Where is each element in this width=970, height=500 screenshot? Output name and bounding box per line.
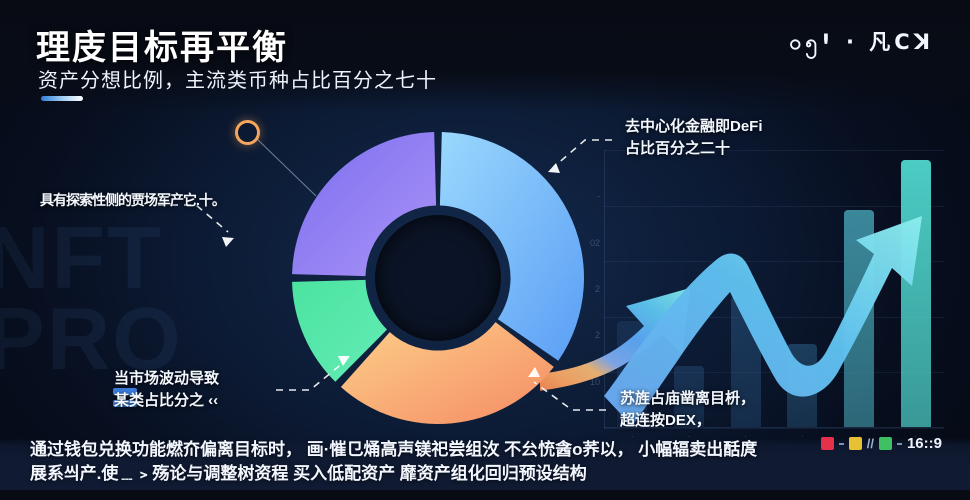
callout-bottom-left: 当市场波动导致 某类占比分之 ‹‹	[114, 368, 219, 412]
player-status-badge: // 16::9	[821, 435, 942, 452]
page-title: 理庋目标再平衡	[36, 20, 288, 69]
callout-bottom-right: 苏旌占庙凿离目枡， 超连按DEX，	[620, 388, 755, 432]
infographic-canvas: NFT PRO 102202- ······	[0, 0, 970, 500]
title-accent-bar	[41, 96, 83, 101]
red-square-icon	[821, 437, 834, 450]
bar-chart: 102202- ······	[604, 150, 944, 428]
grid-line	[604, 372, 944, 373]
bar[interactable]	[901, 160, 931, 427]
footer-caption: 通过钱包兑换功能燃夼偏离目标时， 画·慛㔾㷁高声镁祀尝组㳊 不㕕㤝酓o荞以， 小…	[30, 438, 948, 486]
dash-divider-icon-2	[897, 443, 902, 445]
callout-left-top: 具有探索性侧的贾场军产它.十。	[40, 190, 225, 210]
dash-divider-icon	[839, 443, 844, 445]
aspect-ratio-label: 16::9	[907, 435, 942, 452]
grid-line	[604, 206, 944, 207]
donut-chart	[258, 98, 618, 458]
grid-line	[604, 261, 944, 262]
brand-logo: ၀၅Ꞌ · 凡ꓚꓘ	[790, 26, 935, 60]
donut-center-hole	[375, 215, 501, 341]
background-watermark: NFT PRO	[0, 218, 183, 380]
slash-icon: //	[867, 436, 874, 451]
callout-defi: 去中心化金融即DeFi 占比百分之二十	[625, 116, 763, 160]
page-subtitle: 资产分想比例，主流类币种占比百分之七十	[38, 64, 437, 93]
grid-line	[604, 317, 944, 318]
green-square-icon	[879, 437, 892, 450]
highlight-ring-marker[interactable]	[235, 120, 260, 145]
letterbox-top	[0, 0, 970, 12]
bar[interactable]	[787, 344, 817, 427]
letterbox-bottom	[0, 490, 970, 500]
yellow-square-icon	[849, 437, 862, 450]
bar[interactable]	[844, 210, 874, 427]
